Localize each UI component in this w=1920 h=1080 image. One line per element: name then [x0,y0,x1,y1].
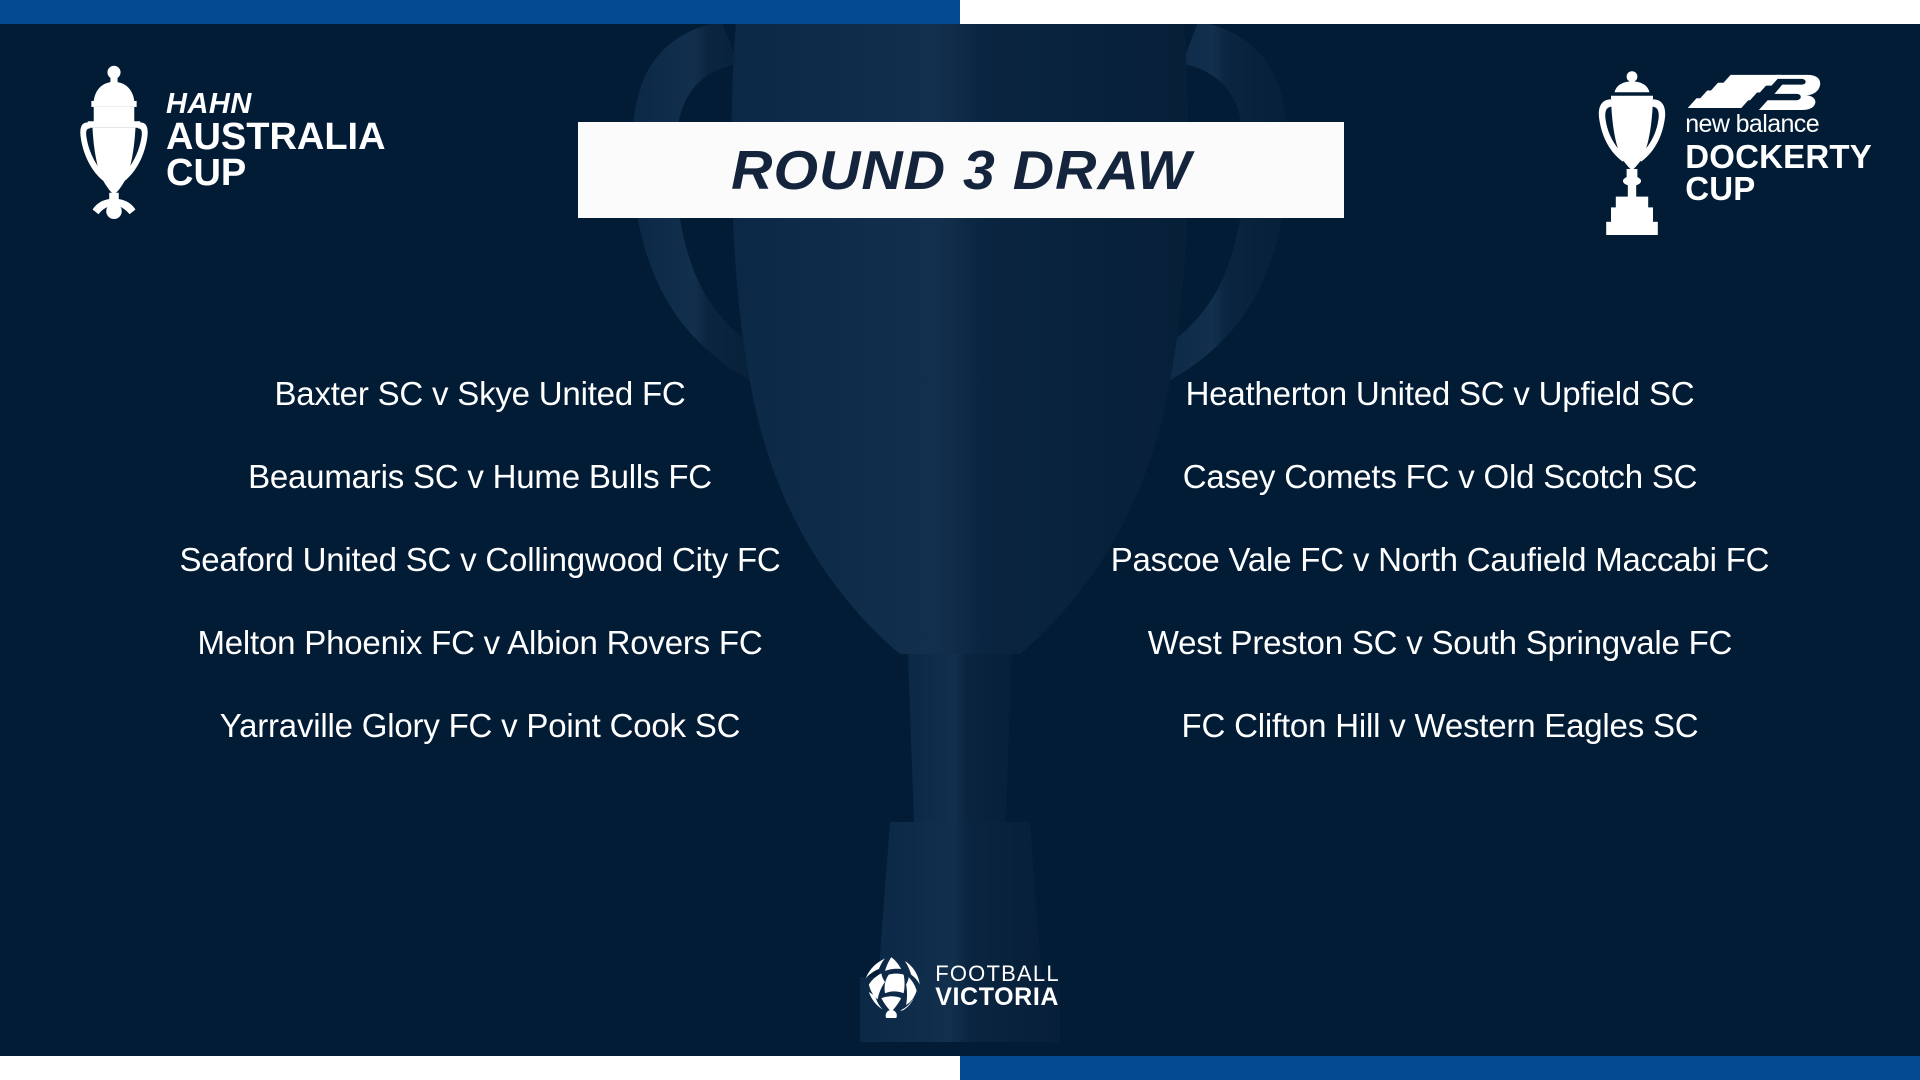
fixture-row: West Preston SC v South Springvale FC [1148,601,1732,684]
fixture-row: Casey Comets FC v Old Scotch SC [1183,435,1698,518]
hahn-logo-line-3: CUP [166,155,386,191]
hahn-logo-line-2: AUSTRALIA [166,119,386,155]
football-victoria-ball-icon [860,956,922,1018]
dockerty-logo-line-2: CUP [1685,173,1872,205]
fixture-row: Pascoe Vale FC v North Caufield Maccabi … [1111,518,1770,601]
new-balance-brand-name: new balance [1685,112,1872,137]
fixture-row: Seaford United SC v Collingwood City FC [179,518,780,601]
top-rail-white-half [960,0,1920,24]
title-banner: ROUND 3 DRAW [578,122,1344,218]
fixtures-left-column: Baxter SC v Skye United FC Beaumaris SC … [0,352,960,767]
bottom-rail [0,1056,1920,1080]
dockerty-logo-wordmark: new balance DOCKERTY CUP [1685,64,1872,205]
football-victoria-logo: FOOTBALL VICTORIA [860,956,1060,1018]
hahn-australia-cup-logo: HAHN AUSTRALIA CUP [78,64,386,219]
football-victoria-line-1: FOOTBALL [935,963,1060,985]
hahn-logo-line-1: HAHN [166,91,386,119]
trophy-icon [78,64,150,219]
football-victoria-line-2: VICTORIA [935,985,1060,1011]
page-title: ROUND 3 DRAW [731,138,1192,202]
fixture-row: Melton Phoenix FC v Albion Rovers FC [197,601,762,684]
fixtures-right-column: Heatherton United SC v Upfield SC Casey … [960,352,1920,767]
fixture-row: Baxter SC v Skye United FC [274,352,685,435]
new-balance-icon [1685,72,1823,110]
bottom-rail-white-half [0,1056,960,1080]
football-victoria-wordmark: FOOTBALL VICTORIA [935,963,1060,1011]
dockerty-cup-logo: new balance DOCKERTY CUP [1593,64,1872,236]
fixtures-grid: Baxter SC v Skye United FC Beaumaris SC … [0,352,1920,767]
hahn-logo-wordmark: HAHN AUSTRALIA CUP [166,91,386,192]
trophy-icon [1593,66,1671,236]
top-rail [0,0,1920,24]
fixture-row: FC Clifton Hill v Western Eagles SC [1182,684,1699,767]
draw-graphic: HAHN AUSTRALIA CUP [0,0,1920,1080]
bottom-rail-blue-half [960,1056,1920,1080]
fixture-row: Beaumaris SC v Hume Bulls FC [248,435,712,518]
fixture-row: Yarraville Glory FC v Point Cook SC [220,684,741,767]
dockerty-logo-line-1: DOCKERTY [1685,141,1872,173]
top-rail-blue-half [0,0,960,24]
fixture-row: Heatherton United SC v Upfield SC [1186,352,1695,435]
